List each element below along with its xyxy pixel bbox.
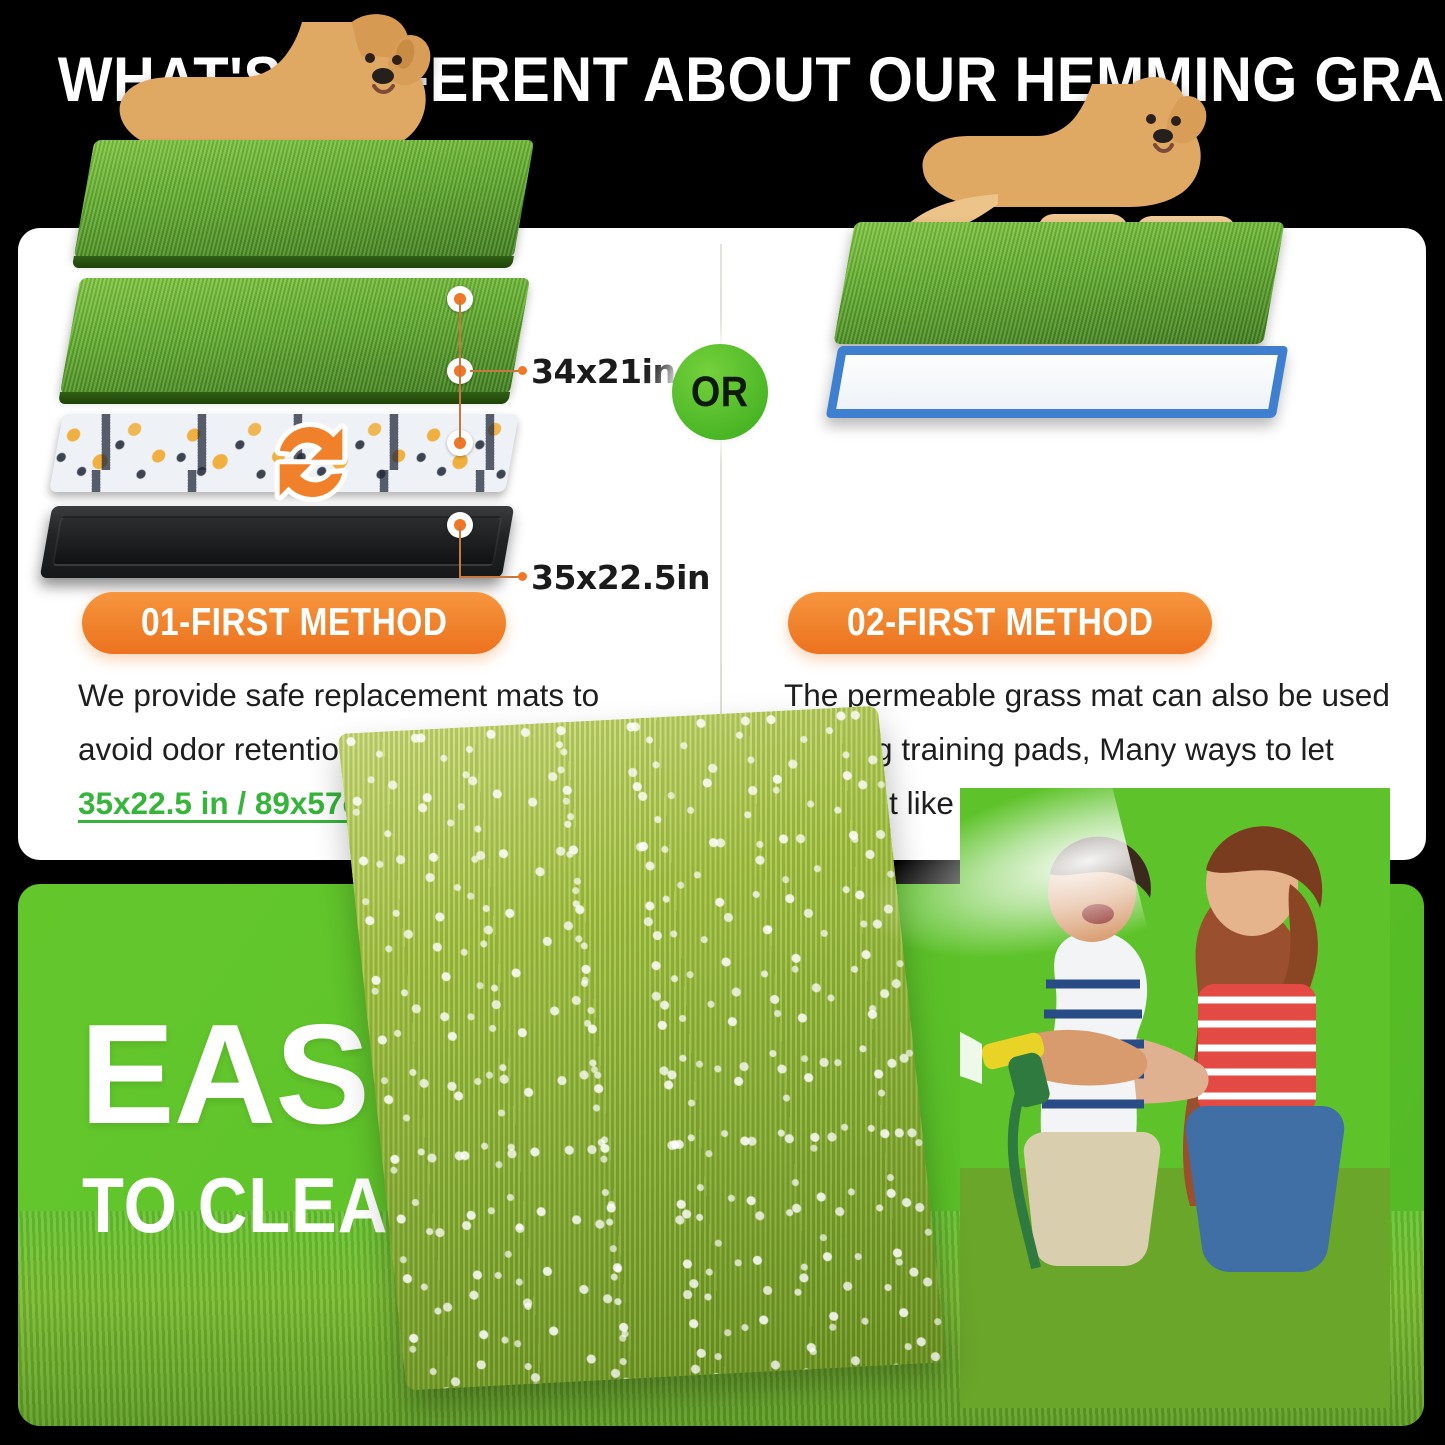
dimension-label-tray: 35x22.5in: [531, 558, 710, 597]
callout-line-vertical-a: [459, 300, 461, 442]
method-badge-01-label: 01-FIRST METHOD: [141, 601, 447, 645]
infographic-root: WHAT'S DIFFERENT ABOUT OUR HEMMING GRASS…: [0, 0, 1445, 1445]
dimension-label-grass: 34x21in: [531, 352, 675, 391]
people-watering-photo: [960, 788, 1390, 1408]
training-pad: [826, 346, 1289, 418]
callout-line-horizontal-a: [470, 370, 520, 372]
grass-mat-right: [833, 222, 1285, 344]
exploded-product-stack: [40, 118, 560, 588]
callout-line-vertical-b: [459, 526, 461, 578]
or-badge-label: OR: [691, 368, 749, 417]
method-badge-02: 02-FIRST METHOD: [788, 592, 1212, 654]
method-badge-02-label: 02-FIRST METHOD: [847, 601, 1153, 645]
grass-mat-top: [74, 140, 535, 258]
grass-mat-with-pad: [830, 170, 1300, 450]
method-badge-01: 01-FIRST METHOD: [82, 592, 506, 654]
wet-grass-mat-hero: [338, 706, 947, 1391]
refresh-cycle-icon: [255, 406, 367, 518]
or-badge: OR: [672, 344, 768, 440]
callout-line-horizontal-b: [459, 576, 521, 578]
callout-tip-a: [518, 366, 527, 375]
callout-tip-b: [518, 572, 527, 581]
method-01-size-highlight: 35x22.5 in / 89x57cm: [78, 785, 388, 821]
